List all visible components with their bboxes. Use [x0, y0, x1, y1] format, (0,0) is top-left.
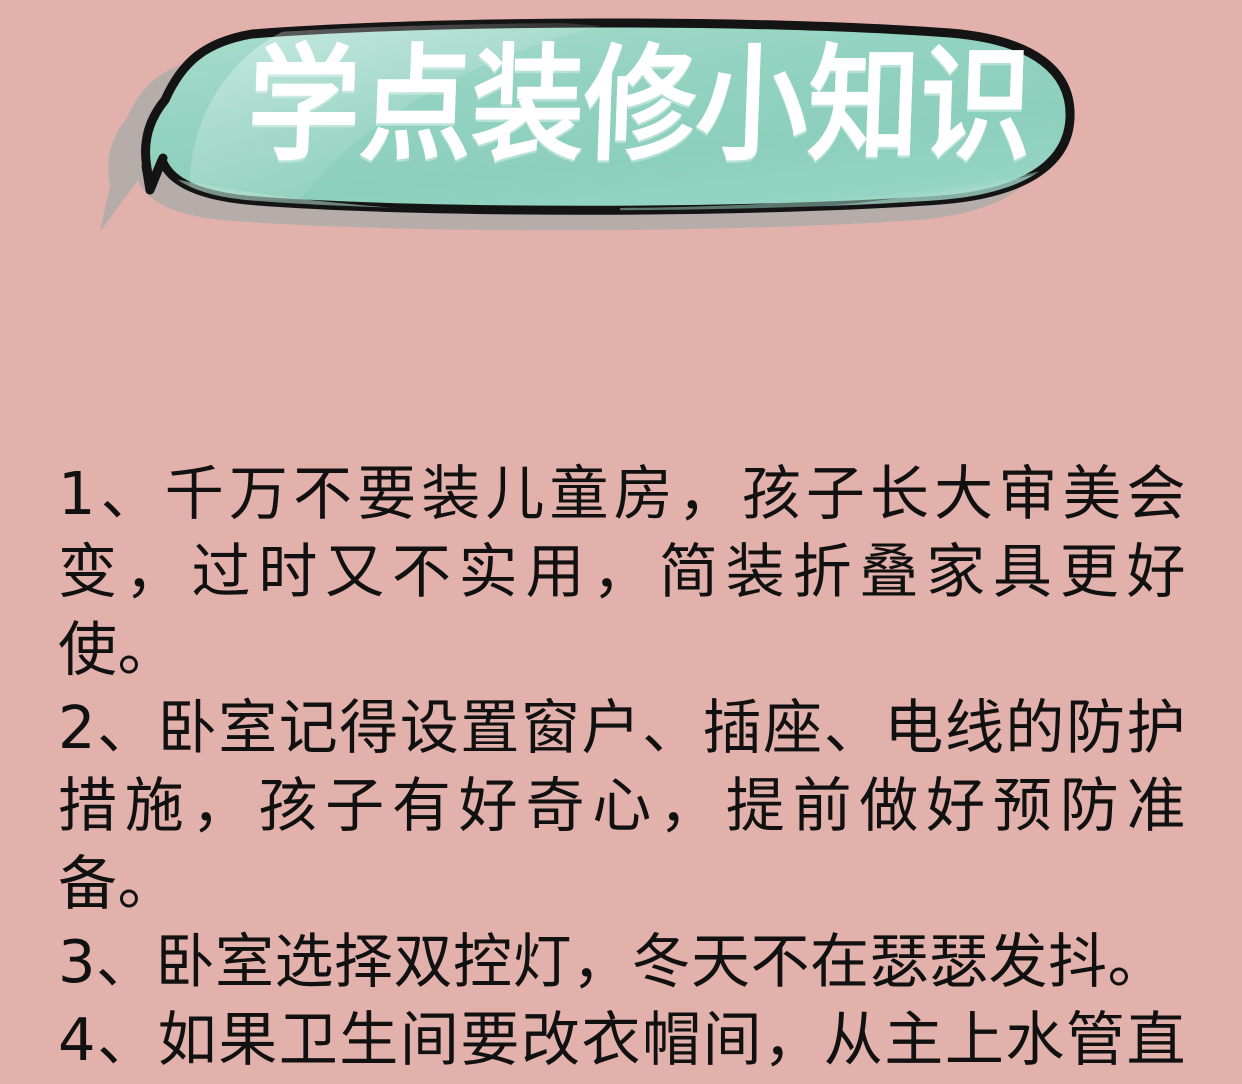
title-speech-bubble: 学点装修小知识 [0, 0, 1242, 260]
tip-item-2: 2、卧室记得设置窗户、插座、电线的防护措施，孩子有好奇心，提前做好预防准备。 [58, 689, 1186, 923]
tip-item-4: 4、如果卫生间要改衣帽间，从主上水管直接切断管路后留个检修口，方便又省心。 [58, 1001, 1186, 1084]
tip-item-1: 1、千万不要装儿童房，孩子长大审美会变，过时又不实用，简装折叠家具更好使。 [58, 455, 1186, 689]
tip-item-3: 3、卧室选择双控灯，冬天不在瑟瑟发抖。 [58, 923, 1186, 1001]
tips-list: 1、千万不要装儿童房，孩子长大审美会变，过时又不实用，简装折叠家具更好使。 2、… [58, 455, 1186, 1084]
page-title-text: 学点装修小知识 [246, 48, 1034, 164]
poster-canvas: 学点装修小知识 1、千万不要装儿童房，孩子长大审美会变，过时又不实用，简装折叠家… [0, 0, 1242, 1084]
page-title: 学点装修小知识 [246, 46, 1040, 166]
